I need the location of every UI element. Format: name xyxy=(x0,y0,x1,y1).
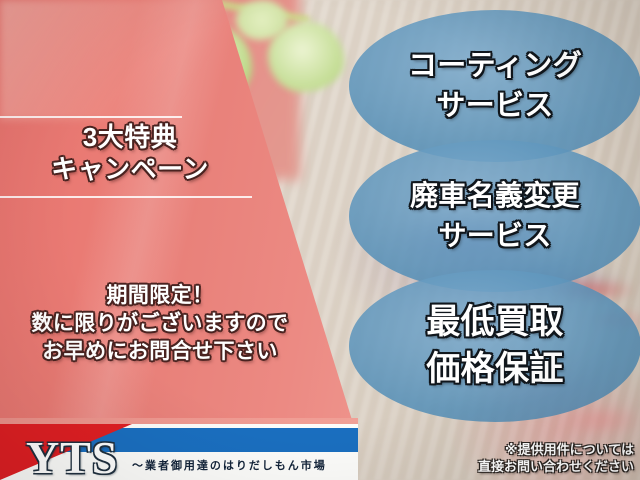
headline-rule-top xyxy=(0,116,182,118)
headline-rule-bottom xyxy=(0,196,252,198)
footnote: ※提供用件については 直接お問い合わせください xyxy=(334,441,634,475)
badge-line-2: サービス xyxy=(438,216,551,256)
salmon-panel-highlight xyxy=(0,0,230,120)
promo-line-1: 期間限定！ xyxy=(0,282,320,310)
badge-line-2: サービス xyxy=(436,86,553,126)
badge-line-1: 最低買取 xyxy=(426,299,563,346)
headline-line-2: キャンペーン xyxy=(0,152,260,186)
badge-line-2: 価格保証 xyxy=(426,346,563,393)
promo-line-3: お早めにお問合せ下さい xyxy=(0,338,320,366)
logo-wordmark: YTS xyxy=(26,435,118,480)
badge-line-1: 廃車名義変更 xyxy=(410,176,580,216)
ivy-leaf-icon xyxy=(268,22,344,92)
advertisement-banner: 3大特典 キャンペーン 期間限定！ 数に限りがございますので お早めにお問合せ下… xyxy=(0,0,640,480)
logo-tagline: 〜業者御用達のはりだしもん市場 xyxy=(132,460,356,473)
promo-text: 期間限定！ 数に限りがございますので お早めにお問合せ下さい xyxy=(0,282,320,366)
promo-line-2: 数に限りがございますので xyxy=(0,310,320,338)
headline: 3大特典 キャンペーン xyxy=(0,122,260,186)
logo-banner[interactable]: YTS 〜業者御用達のはりだしもん市場 xyxy=(0,424,358,480)
footnote-line-2: 直接お問い合わせください xyxy=(334,458,634,475)
badge-minimum-price-guarantee[interactable]: 最低買取 価格保証 xyxy=(349,270,640,422)
badge-line-1: コーティング xyxy=(408,46,582,86)
headline-line-1: 3大特典 xyxy=(0,122,260,152)
footnote-line-1: ※提供用件については xyxy=(334,441,634,458)
